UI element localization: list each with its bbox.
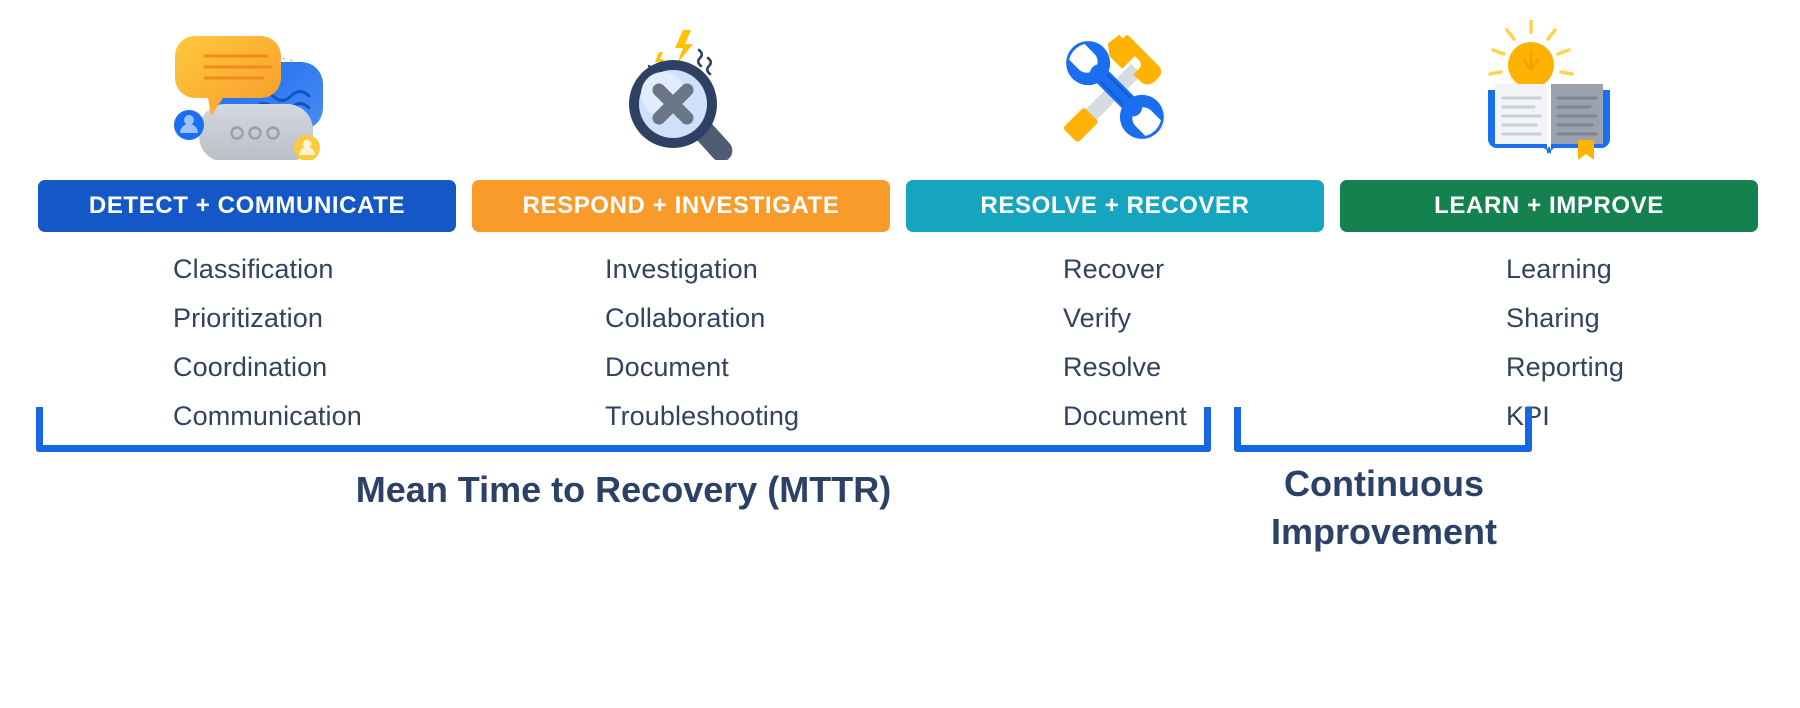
- list-item: Coordination: [127, 343, 367, 392]
- list-item: Document: [561, 343, 801, 392]
- list-item: Sharing: [1474, 294, 1624, 343]
- phase-pill-label: RESPOND + INVESTIGATE: [523, 192, 840, 220]
- caption-line-2: Improvement: [1204, 508, 1564, 556]
- bracket-mttr: [36, 407, 1211, 452]
- phase-pill-respond[interactable]: RESPOND + INVESTIGATE: [472, 180, 890, 232]
- list-item: Resolve: [1027, 343, 1203, 392]
- speech-bubbles-icon: [38, 0, 456, 180]
- phase-pill-learn[interactable]: LEARN + IMPROVE: [1340, 180, 1758, 232]
- phase-pill-label: LEARN + IMPROVE: [1434, 192, 1664, 220]
- book-lightbulb-icon: [1340, 0, 1758, 180]
- list-item: Reporting: [1474, 343, 1624, 392]
- caption-line-1: Continuous: [1204, 460, 1564, 508]
- magnifier-error-icon: [472, 0, 890, 180]
- phase-column-respond: RESPOND + INVESTIGATE Investigation Coll…: [472, 0, 890, 441]
- phase-column-resolve: RESOLVE + RECOVER Recover Verify Resolve…: [906, 0, 1324, 441]
- list-item: Investigation: [561, 245, 801, 294]
- caption-mttr: Mean Time to Recovery (MTTR): [36, 466, 1211, 514]
- phase-pill-detect[interactable]: DETECT + COMMUNICATE: [38, 180, 456, 232]
- hammer-wrench-icon: [906, 0, 1324, 180]
- phase-pill-label: RESOLVE + RECOVER: [980, 192, 1249, 220]
- caption-continuous-improvement: Continuous Improvement: [1204, 460, 1564, 556]
- phase-columns: DETECT + COMMUNICATE Classification Prio…: [0, 0, 1800, 470]
- list-item: Recover: [1027, 245, 1203, 294]
- list-item: Prioritization: [127, 294, 367, 343]
- list-item: Classification: [127, 245, 367, 294]
- list-item: Learning: [1474, 245, 1624, 294]
- phase-pill-resolve[interactable]: RESOLVE + RECOVER: [906, 180, 1324, 232]
- phase-column-learn: LEARN + IMPROVE Learning Sharing Reporti…: [1340, 0, 1758, 441]
- bracket-continuous-improvement: [1234, 407, 1532, 452]
- list-item: Verify: [1027, 294, 1203, 343]
- list-item: Collaboration: [561, 294, 801, 343]
- phase-pill-label: DETECT + COMMUNICATE: [89, 192, 405, 220]
- diagram-canvas: DETECT + COMMUNICATE Classification Prio…: [0, 0, 1800, 708]
- phase-column-detect: DETECT + COMMUNICATE Classification Prio…: [38, 0, 456, 441]
